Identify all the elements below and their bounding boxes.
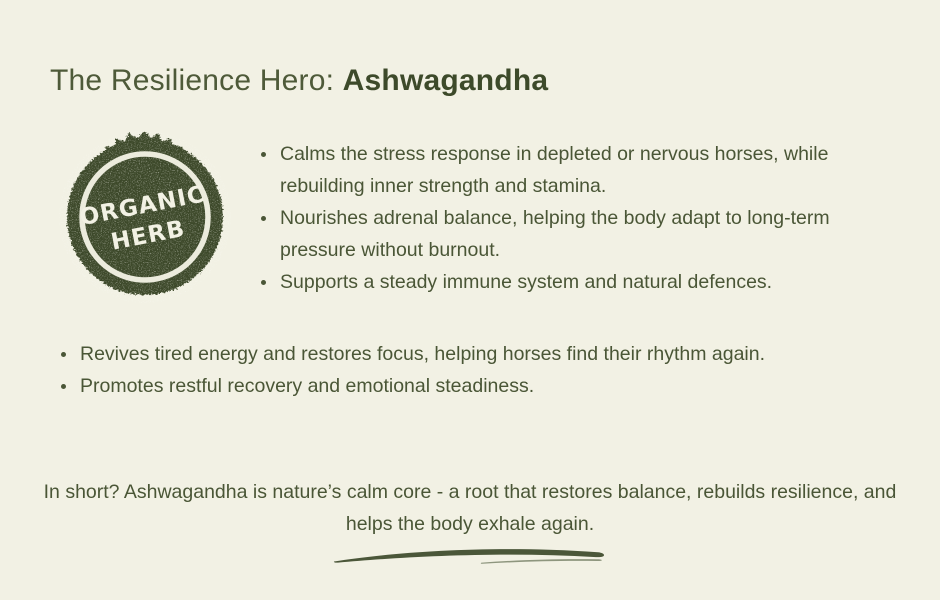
list-item: Calms the stress response in depleted or… <box>258 138 894 202</box>
list-item: Nourishes adrenal balance, helping the b… <box>258 202 894 266</box>
summary-text: In short? Ashwagandha is nature’s calm c… <box>40 476 900 540</box>
benefits-list-full: Revives tired energy and restores focus,… <box>58 338 894 402</box>
page-title-lead: The Resilience Hero: <box>50 64 334 97</box>
slide-canvas: The Resilience Hero: Ashwagandha <box>0 0 940 600</box>
list-item: Promotes restful recovery and emotional … <box>58 370 894 402</box>
page-title-herb-name: Ashwagandha <box>343 64 549 97</box>
list-item: Revives tired energy and restores focus,… <box>58 338 894 370</box>
page-title: The Resilience Hero: Ashwagandha <box>50 62 548 100</box>
benefits-list-indented: Calms the stress response in depleted or… <box>258 138 894 298</box>
organic-herb-stamp-icon: ORGANIC HERB <box>55 127 235 307</box>
list-item: Supports a steady immune system and natu… <box>258 266 894 298</box>
brush-flourish-icon <box>330 538 615 570</box>
